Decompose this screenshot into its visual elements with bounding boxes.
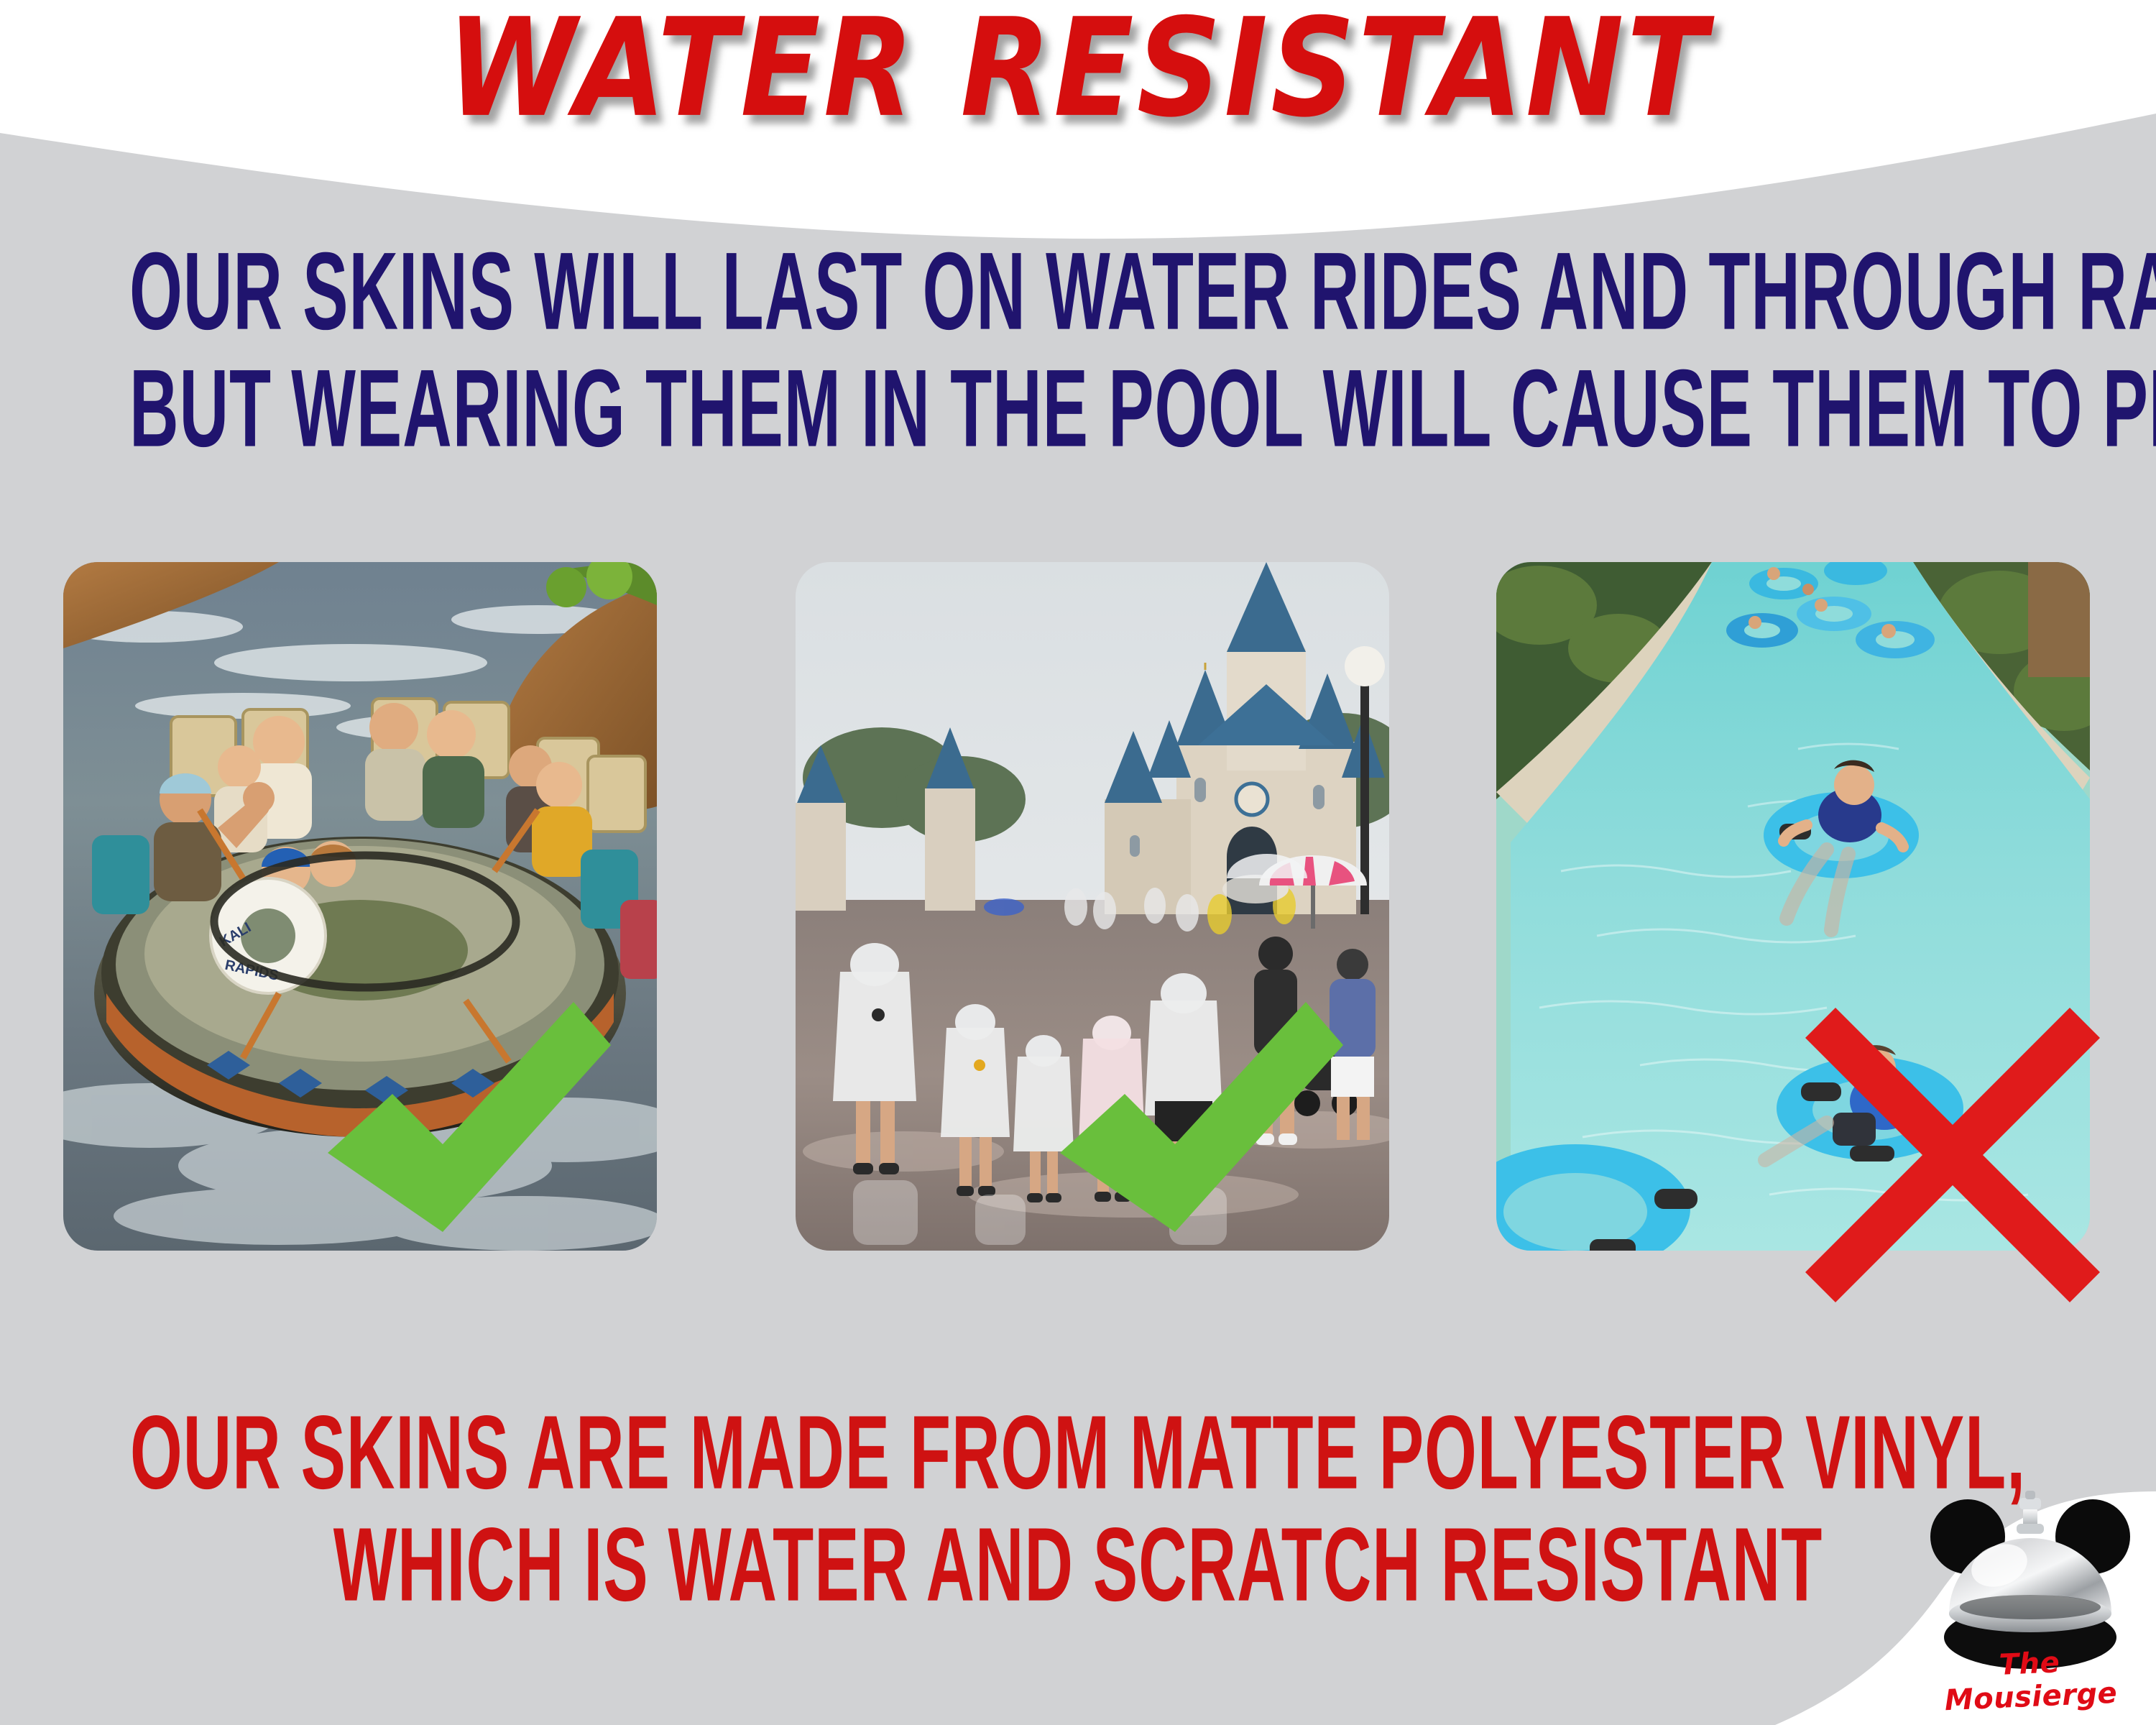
photo-card-water-ride[interactable]: KALI RAPIDS xyxy=(63,562,657,1251)
headline-line-2: BUT WEARING THEM IN THE POOL WILL CAUSE … xyxy=(129,357,2027,459)
photo-frame xyxy=(796,562,1389,1251)
poster-title-wrap: WATER RESISTANT xyxy=(0,0,2156,137)
photo-card-pool[interactable] xyxy=(1496,562,2090,1251)
headline-block: OUR SKINS WILL LAST ON WATER RIDES AND T… xyxy=(0,255,2156,444)
footer-block: OUR SKINS ARE MADE FROM MATTE POLYESTER … xyxy=(0,1420,2156,1600)
poster-canvas: WATER RESISTANT OUR SKINS WILL LAST ON W… xyxy=(0,0,2156,1725)
photo-frame: KALI RAPIDS xyxy=(63,562,657,1251)
headline-line-1: OUR SKINS WILL LAST ON WATER RIDES AND T… xyxy=(129,240,2027,341)
brand-logo[interactable]: The Mousierge xyxy=(1912,1481,2149,1718)
photo-water-ride: KALI RAPIDS xyxy=(63,562,657,1251)
footer-line-1: OUR SKINS ARE MADE FROM MATTE POLYESTER … xyxy=(108,1406,2048,1502)
photo-castle-rain xyxy=(796,562,1389,1251)
footer-line-2: WHICH IS WATER AND SCRATCH RESISTANT xyxy=(108,1518,2048,1614)
page-title: WATER RESISTANT xyxy=(446,1,1709,137)
photo-frame xyxy=(1496,562,2090,1251)
brand-name: The Mousierge xyxy=(1910,1642,2150,1719)
photo-card-rainstorm[interactable] xyxy=(796,562,1389,1251)
photo-lazy-river xyxy=(1496,562,2090,1251)
